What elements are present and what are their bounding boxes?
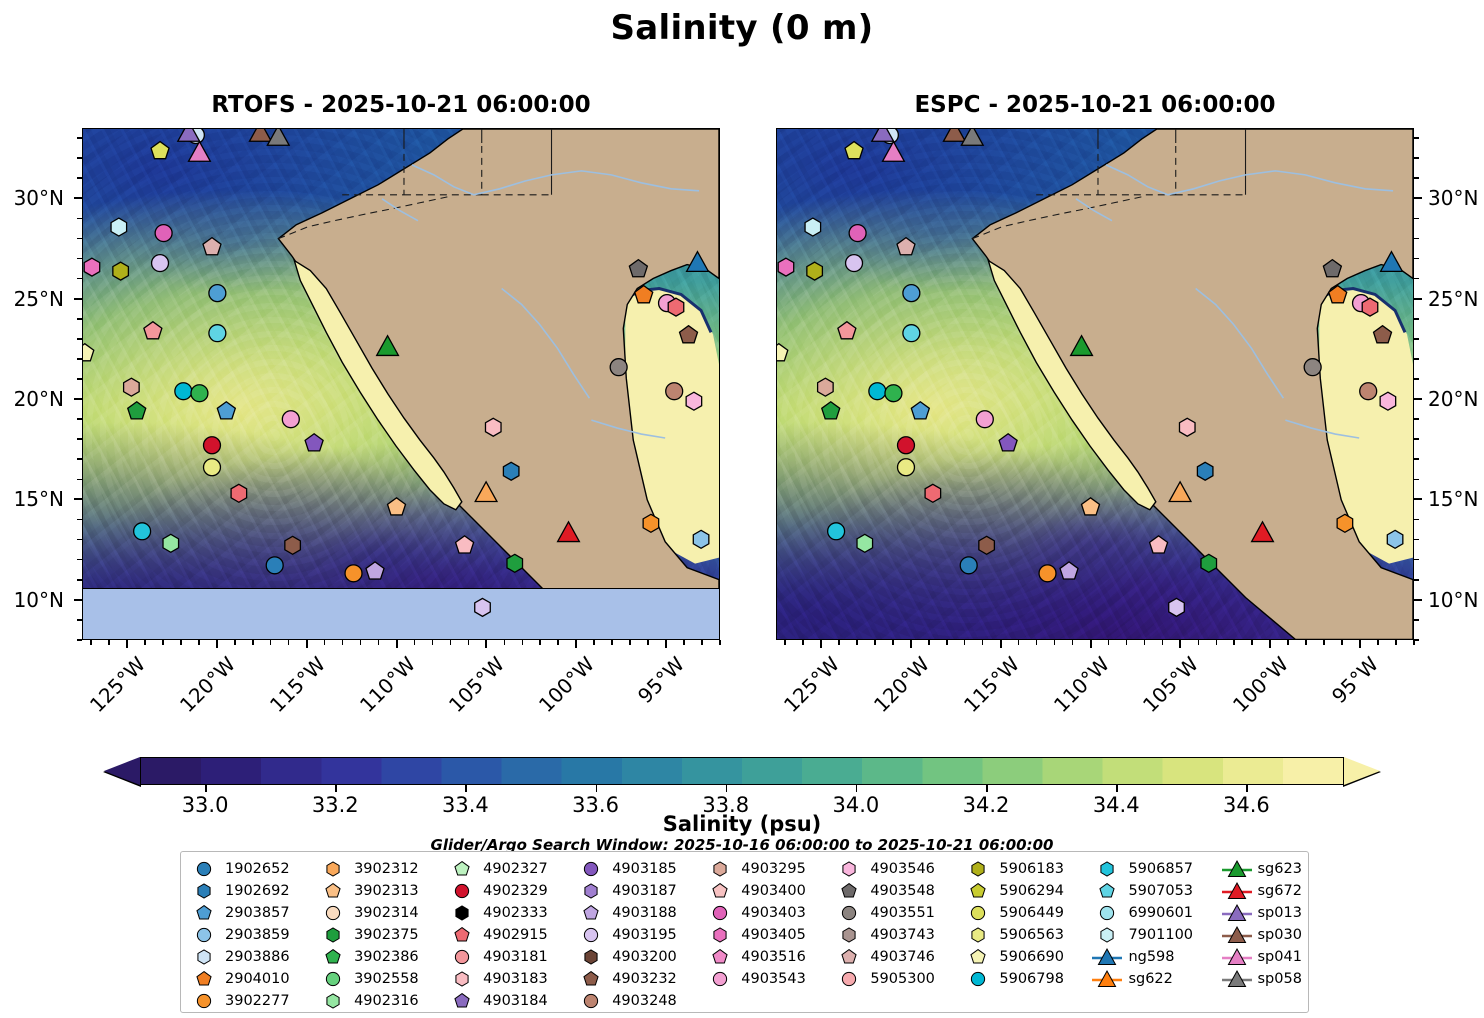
legend-marker[interactable] <box>327 862 339 876</box>
longitude-minor-tick <box>719 640 721 645</box>
colorbar-gradient <box>140 757 1344 785</box>
legend-marker[interactable] <box>1100 884 1114 897</box>
legend-item[interactable]: 4903187 <box>574 880 677 902</box>
legend-item[interactable]: 4903546 <box>832 858 935 880</box>
latitude-minor-tick <box>77 318 82 320</box>
legend-marker[interactable] <box>713 950 727 963</box>
observation-marker[interactable] <box>629 260 647 277</box>
legend-marker[interactable] <box>455 862 469 875</box>
legend-item[interactable]: 4903295 <box>703 858 806 880</box>
legend-item[interactable]: 6990601 <box>1090 902 1193 924</box>
observation-marker[interactable] <box>485 418 501 436</box>
legend-marker[interactable] <box>714 928 726 942</box>
observation-marker[interactable] <box>869 383 886 400</box>
legend-item[interactable]: 4903232 <box>574 968 677 990</box>
latitude-minor-tick <box>77 238 82 240</box>
observation-marker[interactable] <box>979 536 995 554</box>
legend-item[interactable]: 2903886 <box>187 946 290 968</box>
longitude-minor-tick <box>557 640 559 645</box>
observation-marker[interactable] <box>1252 522 1274 542</box>
observation-marker[interactable] <box>113 262 129 280</box>
observation-marker[interactable] <box>204 437 221 454</box>
legend[interactable]: 1902652190269229038572903859290388629040… <box>180 851 1309 1013</box>
longitude-minor-tick <box>683 640 685 645</box>
longitude-minor-tick <box>928 640 930 645</box>
legend-item[interactable]: 5906690 <box>961 946 1064 968</box>
legend-item[interactable]: 4903188 <box>574 902 677 924</box>
legend-marker[interactable] <box>584 906 598 919</box>
legend-item[interactable]: 4903200 <box>574 946 677 968</box>
legend-item[interactable]: 4902327 <box>445 858 548 880</box>
observation-marker[interactable] <box>960 557 977 574</box>
legend-marker[interactable] <box>972 928 984 942</box>
latitude-minor-tick <box>1414 358 1419 360</box>
legend-item[interactable]: 4903400 <box>703 880 806 902</box>
legend-marker[interactable] <box>842 950 856 963</box>
latitude-minor-tick <box>77 358 82 360</box>
legend-marker-circle-icon <box>445 880 479 902</box>
observation-marker[interactable] <box>1380 392 1396 410</box>
legend-item[interactable]: 4903183 <box>445 968 548 990</box>
legend-marker[interactable] <box>843 928 855 942</box>
legend-marker-pentagon-icon <box>316 880 350 902</box>
legend-marker[interactable] <box>972 862 984 876</box>
latitude-minor-tick <box>1414 458 1419 460</box>
legend-item-label: 7901100 <box>1124 927 1193 943</box>
observation-marker[interactable] <box>883 142 905 162</box>
legend-item[interactable]: 3902375 <box>316 924 419 946</box>
legend-marker[interactable] <box>1101 862 1113 876</box>
observation-marker[interactable] <box>1304 359 1321 376</box>
observation-markers-espc[interactable] <box>777 129 1413 639</box>
legend-marker[interactable] <box>197 928 210 941</box>
legend-marker[interactable] <box>197 994 210 1007</box>
observation-marker[interactable] <box>456 536 474 553</box>
legend-item[interactable]: sg672 <box>1220 880 1302 902</box>
observation-marker[interactable] <box>807 262 823 280</box>
map-panel-espc[interactable] <box>776 128 1414 640</box>
observation-marker[interactable] <box>666 383 683 400</box>
legend-marker[interactable] <box>197 906 211 919</box>
legend-item[interactable]: 4903195 <box>574 924 677 946</box>
legend-marker[interactable] <box>326 906 339 919</box>
latitude-minor-tick <box>1414 539 1419 541</box>
legend-marker[interactable] <box>971 884 985 897</box>
legend-marker-hexagon-icon <box>961 924 995 946</box>
observation-marker[interactable] <box>163 534 179 552</box>
legend-item[interactable]: 4903543 <box>703 968 806 990</box>
observation-marker[interactable] <box>155 225 172 242</box>
observation-marker[interactable] <box>475 598 491 616</box>
legend-marker[interactable] <box>971 950 985 963</box>
longitude-tick-label: 110°W <box>1012 652 1114 754</box>
observation-marker[interactable] <box>1360 383 1377 400</box>
legend-item[interactable]: 1902652 <box>187 858 290 880</box>
longitude-minor-tick <box>1054 640 1056 645</box>
longitude-tick-label: 120°W <box>138 652 240 754</box>
legend-item[interactable]: 4903548 <box>832 880 935 902</box>
legend-marker-circle-icon <box>961 968 995 990</box>
observation-marker[interactable] <box>83 344 94 361</box>
observation-marker[interactable] <box>1323 260 1341 277</box>
legend-marker-circle-icon <box>961 902 995 924</box>
legend-item[interactable]: sp030 <box>1220 924 1302 946</box>
legend-marker-circle-icon <box>316 902 350 924</box>
legend-item-label: 4903184 <box>479 993 548 1009</box>
longitude-minor-tick <box>982 640 984 645</box>
observation-marker[interactable] <box>1329 286 1347 303</box>
observation-marker[interactable] <box>943 129 965 141</box>
observation-marker[interactable] <box>898 459 915 476</box>
legend-item[interactable]: 5906857 <box>1090 858 1193 880</box>
observation-marker[interactable] <box>305 434 323 451</box>
longitude-minor-tick <box>180 640 182 645</box>
legend-item[interactable]: 4903516 <box>703 946 806 968</box>
legend-marker[interactable] <box>714 862 726 876</box>
latitude-minor-tick <box>1414 418 1419 420</box>
observation-marker[interactable] <box>128 402 146 419</box>
longitude-tick-label: 120°W <box>832 652 934 754</box>
legend-item[interactable]: 4903746 <box>832 946 935 968</box>
legend-marker-triangle-icon <box>1090 946 1124 968</box>
observation-marker[interactable] <box>1169 598 1185 616</box>
legend-item[interactable]: 2903859 <box>187 924 290 946</box>
legend-marker[interactable] <box>327 994 339 1008</box>
legend-item[interactable]: 5905300 <box>832 968 935 990</box>
legend-item-label: 4903232 <box>608 971 677 987</box>
observation-marker[interactable] <box>285 536 301 554</box>
latitude-minor-tick <box>1414 438 1419 440</box>
observation-marker[interactable] <box>231 484 247 502</box>
observation-marker[interactable] <box>189 142 211 162</box>
legend-marker-pentagon-icon <box>187 902 221 924</box>
legend-marker[interactable] <box>584 972 598 985</box>
longitude-minor-tick <box>539 640 541 645</box>
legend-item[interactable]: 1902692 <box>187 880 290 902</box>
legend-item-label: 4902327 <box>479 861 548 877</box>
longitude-tick-label: 110°W <box>318 652 420 754</box>
longitude-tick <box>1000 640 1002 648</box>
legend-marker[interactable] <box>585 862 598 875</box>
map-panel-rtofs[interactable] <box>82 128 720 640</box>
observation-marker[interactable] <box>124 378 140 396</box>
observation-marker[interactable] <box>1201 554 1217 572</box>
observation-marker[interactable] <box>203 238 221 255</box>
observation-marker[interactable] <box>345 565 362 582</box>
legend-item[interactable]: 4902333 <box>445 902 548 924</box>
legend-item[interactable]: sg623 <box>1220 858 1302 880</box>
observation-marker[interactable] <box>898 437 915 454</box>
legend-marker[interactable] <box>455 884 468 897</box>
latitude-minor-tick <box>77 278 82 280</box>
legend-item-label: 2904010 <box>221 971 290 987</box>
observation-marker[interactable] <box>845 142 863 159</box>
legend-item[interactable]: 3902386 <box>316 946 419 968</box>
longitude-minor-tick <box>90 640 92 645</box>
legend-marker-circle-icon <box>1090 902 1124 924</box>
legend-marker[interactable] <box>1101 906 1114 919</box>
observation-marker[interactable] <box>1060 562 1078 579</box>
longitude-minor-tick <box>946 640 948 645</box>
legend-marker[interactable] <box>972 906 985 919</box>
legend-marker-circle-icon <box>574 858 608 880</box>
longitude-minor-tick <box>1341 640 1343 645</box>
legend-column: 4903295490340049034034903405490351649035… <box>703 858 806 990</box>
legend-item-label: sg622 <box>1124 971 1172 987</box>
legend-item[interactable]: 3902277 <box>187 990 290 1012</box>
observation-marker[interactable] <box>976 411 993 428</box>
legend-marker[interactable] <box>843 862 855 876</box>
legend-item[interactable]: 5906294 <box>961 880 1064 902</box>
colorbar-tick <box>986 785 988 792</box>
longitude-tick <box>485 640 487 648</box>
longitude-minor-tick <box>1287 640 1289 645</box>
observation-marker[interactable] <box>558 522 580 542</box>
legend-marker[interactable] <box>326 950 340 963</box>
legend-item[interactable]: sp058 <box>1220 968 1302 990</box>
latitude-minor-tick <box>1414 338 1419 340</box>
legend-item[interactable]: 4903743 <box>832 924 935 946</box>
observation-marker[interactable] <box>1071 336 1093 356</box>
legend-item-label: 2903857 <box>221 905 290 921</box>
observation-marker[interactable] <box>668 298 684 316</box>
colorbar-label: Salinity (psu) <box>0 812 1484 836</box>
legend-marker-pentagon-icon <box>445 858 479 880</box>
latitude-tick <box>74 398 82 400</box>
observation-marker[interactable] <box>777 344 788 361</box>
legend-marker-circle-icon <box>574 990 608 1012</box>
observation-marker[interactable] <box>687 252 709 272</box>
observation-marker[interactable] <box>680 326 698 343</box>
legend-item[interactable]: sp041 <box>1220 946 1302 968</box>
observation-marker[interactable] <box>1381 252 1403 272</box>
observation-markers-rtofs[interactable] <box>83 129 719 639</box>
longitude-minor-tick <box>1395 640 1397 645</box>
legend-item[interactable]: 5906449 <box>961 902 1064 924</box>
observation-marker[interactable] <box>778 258 794 276</box>
legend-item[interactable]: 5907053 <box>1090 880 1193 902</box>
observation-marker[interactable] <box>822 402 840 419</box>
legend-marker[interactable] <box>843 972 856 985</box>
observation-marker[interactable] <box>846 255 863 272</box>
legend-item[interactable]: 5906563 <box>961 924 1064 946</box>
legend-marker[interactable] <box>326 884 340 897</box>
observation-marker[interactable] <box>209 325 226 342</box>
observation-marker[interactable] <box>388 498 406 515</box>
colorbar[interactable]: 33.033.233.433.633.834.034.234.434.6 <box>104 757 1380 785</box>
observation-marker[interactable] <box>1169 482 1191 502</box>
longitude-minor-tick <box>1305 640 1307 645</box>
legend-item[interactable]: 4903181 <box>445 946 548 968</box>
observation-marker[interactable] <box>828 523 845 540</box>
observation-marker[interactable] <box>134 523 151 540</box>
observation-marker[interactable] <box>84 258 100 276</box>
legend-marker[interactable] <box>455 994 469 1007</box>
legend-item[interactable]: 4902329 <box>445 880 548 902</box>
legend-item[interactable]: 4903405 <box>703 924 806 946</box>
legend-item[interactable]: 3902314 <box>316 902 419 924</box>
latitude-tick <box>74 298 82 300</box>
legend-item-label: sp058 <box>1254 971 1302 987</box>
observation-marker[interactable] <box>1082 498 1100 515</box>
longitude-minor-tick <box>288 640 290 645</box>
legend-item[interactable]: sg622 <box>1090 968 1193 990</box>
longitude-minor-tick <box>432 640 434 645</box>
observation-marker[interactable] <box>151 142 169 159</box>
observation-marker[interactable] <box>507 554 523 572</box>
legend-item[interactable]: 4903185 <box>574 858 677 880</box>
legend-item[interactable]: 2903857 <box>187 902 290 924</box>
legend-item[interactable]: 3902312 <box>316 858 419 880</box>
legend-marker[interactable] <box>197 862 210 875</box>
legend-marker[interactable] <box>585 950 597 964</box>
legend-marker[interactable] <box>326 972 339 985</box>
observation-marker[interactable] <box>903 325 920 342</box>
observation-marker[interactable] <box>897 238 915 255</box>
latitude-minor-tick <box>1414 157 1419 159</box>
legend-marker[interactable] <box>456 906 468 920</box>
legend-marker[interactable] <box>455 928 469 941</box>
legend-item[interactable]: 5906183 <box>961 858 1064 880</box>
observation-marker[interactable] <box>849 225 866 242</box>
observation-marker[interactable] <box>805 218 821 236</box>
legend-marker[interactable] <box>1101 928 1113 942</box>
observation-marker[interactable] <box>1179 418 1195 436</box>
observation-marker[interactable] <box>818 378 834 396</box>
legend-item[interactable]: 4903551 <box>832 902 935 924</box>
latitude-tick <box>1414 498 1422 500</box>
observation-marker[interactable] <box>911 402 929 419</box>
legend-column: 5906857590705369906017901100ng598sg622 <box>1090 858 1193 990</box>
legend-marker-triangle-icon <box>1220 946 1254 968</box>
legend-marker[interactable] <box>585 994 598 1007</box>
legend-marker[interactable] <box>842 884 856 897</box>
observation-marker[interactable] <box>111 218 127 236</box>
legend-marker[interactable] <box>972 972 985 985</box>
legend-marker[interactable] <box>198 950 210 964</box>
observation-marker[interactable] <box>209 285 226 302</box>
longitude-minor-tick <box>522 640 524 645</box>
observation-marker[interactable] <box>693 530 709 548</box>
legend-marker-circle-icon <box>187 990 221 1012</box>
legend-item-label: 4903183 <box>479 971 548 987</box>
observation-marker[interactable] <box>217 402 235 419</box>
observation-marker[interactable] <box>903 285 920 302</box>
legend-item[interactable]: 5906798 <box>961 968 1064 990</box>
longitude-minor-tick <box>1162 640 1164 645</box>
legend-item[interactable]: 4902316 <box>316 990 419 1012</box>
longitude-tick-label: 125°W <box>48 652 150 754</box>
longitude-minor-tick <box>964 640 966 645</box>
observation-marker[interactable] <box>925 484 941 502</box>
observation-marker[interactable] <box>610 359 627 376</box>
observation-marker[interactable] <box>152 255 169 272</box>
longitude-minor-tick <box>874 640 876 645</box>
legend-marker[interactable] <box>585 884 597 898</box>
observation-marker[interactable] <box>1039 565 1056 582</box>
legend-item-label: 4903405 <box>737 927 806 943</box>
observation-marker[interactable] <box>1362 298 1378 316</box>
observation-marker[interactable] <box>643 514 659 532</box>
observation-marker[interactable] <box>686 392 702 410</box>
observation-marker[interactable] <box>191 385 208 402</box>
observation-marker[interactable] <box>1337 514 1353 532</box>
legend-marker-pentagon-icon <box>961 946 995 968</box>
colorbar-tick <box>1246 785 1248 792</box>
observation-marker[interactable] <box>857 534 873 552</box>
legend-column: 3902312390231339023143902375390238639025… <box>316 858 419 1012</box>
legend-marker[interactable] <box>197 972 211 985</box>
observation-marker[interactable] <box>635 286 653 303</box>
latitude-tick-label: 10°N <box>1428 588 1484 612</box>
legend-item[interactable]: 3902313 <box>316 880 419 902</box>
observation-marker[interactable] <box>204 459 221 476</box>
legend-item[interactable]: 4903403 <box>703 902 806 924</box>
legend-item[interactable]: 4903184 <box>445 990 548 1012</box>
observation-marker[interactable] <box>267 129 289 145</box>
legend-column: 1902652190269229038572903859290388629040… <box>187 858 290 1012</box>
observation-marker[interactable] <box>1150 536 1168 553</box>
observation-marker[interactable] <box>838 322 856 339</box>
observation-marker[interactable] <box>1197 462 1213 480</box>
longitude-minor-tick <box>360 640 362 645</box>
legend-marker-pentagon-icon <box>574 968 608 990</box>
latitude-minor-tick <box>1414 519 1419 521</box>
legend-item[interactable]: 7901100 <box>1090 924 1193 946</box>
observation-marker[interactable] <box>885 385 902 402</box>
legend-marker[interactable] <box>456 972 468 986</box>
legend-item[interactable]: 4902915 <box>445 924 548 946</box>
legend-item[interactable]: 4903248 <box>574 990 677 1012</box>
observation-marker[interactable] <box>249 129 271 141</box>
legend-item[interactable]: ng598 <box>1090 946 1193 968</box>
observation-marker[interactable] <box>503 462 519 480</box>
legend-marker[interactable] <box>327 928 339 942</box>
observation-marker[interactable] <box>961 129 983 145</box>
longitude-minor-tick <box>144 640 146 645</box>
observation-marker[interactable] <box>366 562 384 579</box>
observation-marker[interactable] <box>1387 530 1403 548</box>
legend-marker[interactable] <box>714 906 727 919</box>
observation-marker[interactable] <box>1374 326 1392 343</box>
longitude-tick <box>575 640 577 648</box>
legend-item[interactable]: 2904010 <box>187 968 290 990</box>
page-title: Salinity (0 m) <box>0 8 1484 48</box>
legend-marker[interactable] <box>714 972 727 985</box>
observation-marker[interactable] <box>999 434 1017 451</box>
observation-marker[interactable] <box>475 482 497 502</box>
observation-marker[interactable] <box>266 557 283 574</box>
longitude-tick-label: 115°W <box>228 652 330 754</box>
longitude-tick <box>1359 640 1361 648</box>
legend-marker[interactable] <box>843 906 856 919</box>
legend-marker[interactable] <box>585 928 598 941</box>
observation-marker[interactable] <box>377 336 399 356</box>
legend-item-label: 5905300 <box>866 971 935 987</box>
longitude-minor-tick <box>1144 640 1146 645</box>
legend-marker[interactable] <box>455 950 468 963</box>
observation-marker[interactable] <box>144 322 162 339</box>
observation-marker[interactable] <box>175 383 192 400</box>
legend-item[interactable]: 3902558 <box>316 968 419 990</box>
observation-marker[interactable] <box>282 411 299 428</box>
latitude-tick <box>1414 298 1422 300</box>
legend-marker[interactable] <box>713 884 727 897</box>
legend-marker-pentagon-icon <box>832 946 866 968</box>
longitude-minor-tick <box>1377 640 1379 645</box>
legend-marker[interactable] <box>198 884 210 898</box>
legend-item[interactable]: sp013 <box>1220 902 1302 924</box>
